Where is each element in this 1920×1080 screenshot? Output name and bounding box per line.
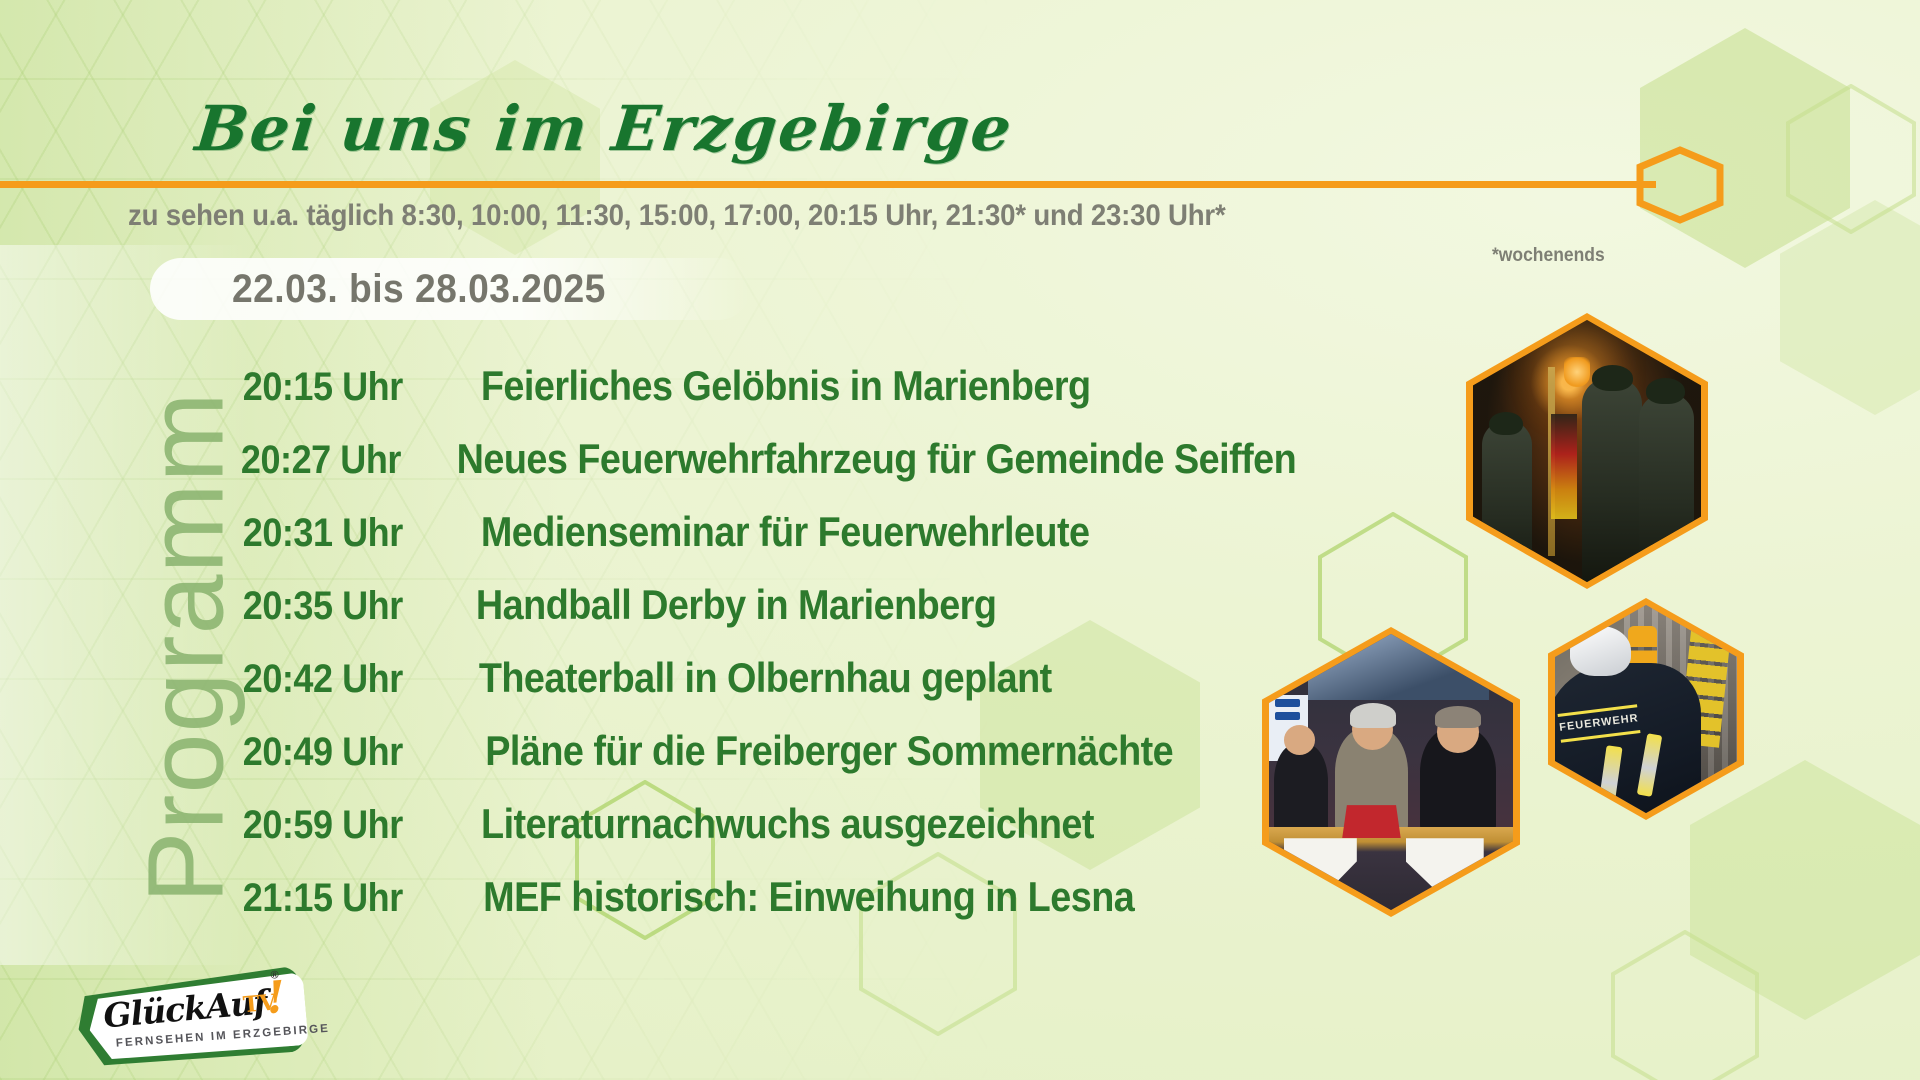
program-time: 20:35 Uhr — [243, 584, 437, 629]
person-hair — [1435, 706, 1481, 728]
hex-photo-military-ceremony — [1466, 313, 1708, 589]
date-range-badge: 22.03. bis 28.03.2025 — [150, 258, 750, 320]
german-flag — [1551, 414, 1577, 519]
registered-trademark-icon: ® — [270, 969, 279, 982]
hexagon-outline — [1786, 84, 1916, 234]
program-time: 20:59 Uhr — [243, 803, 437, 848]
program-time: 20:31 Uhr — [243, 511, 437, 556]
fire-helmet — [1570, 626, 1632, 676]
hex-photo-firefighter: FEUERWEHR — [1548, 598, 1744, 820]
person-hair — [1350, 703, 1396, 728]
page-title: Bei uns im Erzgebirge — [192, 92, 1016, 165]
soldier-figure — [1582, 378, 1641, 582]
soldier-beret — [1489, 412, 1523, 436]
program-title: Theaterball in Olbernhau geplant — [479, 654, 1052, 702]
program-row: 20:35 Uhr Handball Derby in Marienberg — [232, 581, 1312, 654]
soldier-beret — [1592, 365, 1633, 391]
broadcast-times-subtitle: zu sehen u.a. täglich 8:30, 10:00, 11:30… — [128, 199, 1226, 233]
program-time: 20:15 Uhr — [243, 365, 437, 410]
program-time: 20:27 Uhr — [241, 438, 401, 483]
weekend-footnote: *wochenends — [1492, 245, 1605, 267]
program-time: 21:15 Uhr — [243, 876, 437, 921]
program-row: 21:15 Uhr MEF historisch: Einweihung in … — [232, 873, 1312, 946]
program-slide: Bei uns im Erzgebirge zu sehen u.a. tägl… — [0, 0, 1920, 1080]
orange-hexagon-icon — [1636, 146, 1724, 224]
program-title: MEF historisch: Einweihung in Lesna — [483, 873, 1134, 921]
program-time: 20:49 Uhr — [243, 730, 437, 775]
program-title: Neues Feuerwehrfahrzeug für Gemeinde Sei… — [456, 435, 1296, 483]
logo-tv-text: TV — [242, 989, 278, 1018]
program-row: 20:15 Uhr Feierliches Gelöbnis in Marien… — [232, 362, 1312, 435]
program-title: Handball Derby in Marienberg — [476, 581, 996, 629]
soldier-figure — [1482, 420, 1532, 582]
program-row: 20:59 Uhr Literaturnachwuchs ausgezeichn… — [232, 800, 1312, 873]
program-row: 20:42 Uhr Theaterball in Olbernhau gepla… — [232, 654, 1312, 727]
program-title: Pläne für die Freiberger Sommernächte — [485, 727, 1173, 775]
program-row: 20:27 Uhr Neues Feuerwehrfahrzeug für Ge… — [232, 435, 1312, 508]
date-range-text: 22.03. bis 28.03.2025 — [232, 267, 606, 312]
program-time: 20:42 Uhr — [243, 657, 437, 702]
soldier-beret — [1646, 378, 1685, 404]
street-lamp — [1564, 357, 1590, 387]
program-title: Feierliches Gelöbnis in Marienberg — [481, 362, 1091, 410]
red-folder — [1342, 805, 1401, 838]
program-row: 20:31 Uhr Medienseminar für Feuerwehrleu… — [232, 508, 1312, 581]
hexagon-outline — [1610, 930, 1760, 1080]
program-row: 20:49 Uhr Pläne für die Freiberger Somme… — [232, 727, 1312, 800]
person-seated — [1274, 744, 1328, 838]
program-title: Literaturnachwuchs ausgezeichnet — [481, 800, 1094, 848]
hex-photo-panel-discussion — [1262, 627, 1520, 917]
program-title: Medienseminar für Feuerwehrleute — [481, 508, 1090, 556]
orange-divider-rule — [0, 181, 1656, 188]
program-list: 20:15 Uhr Feierliches Gelöbnis in Marien… — [232, 362, 1312, 946]
